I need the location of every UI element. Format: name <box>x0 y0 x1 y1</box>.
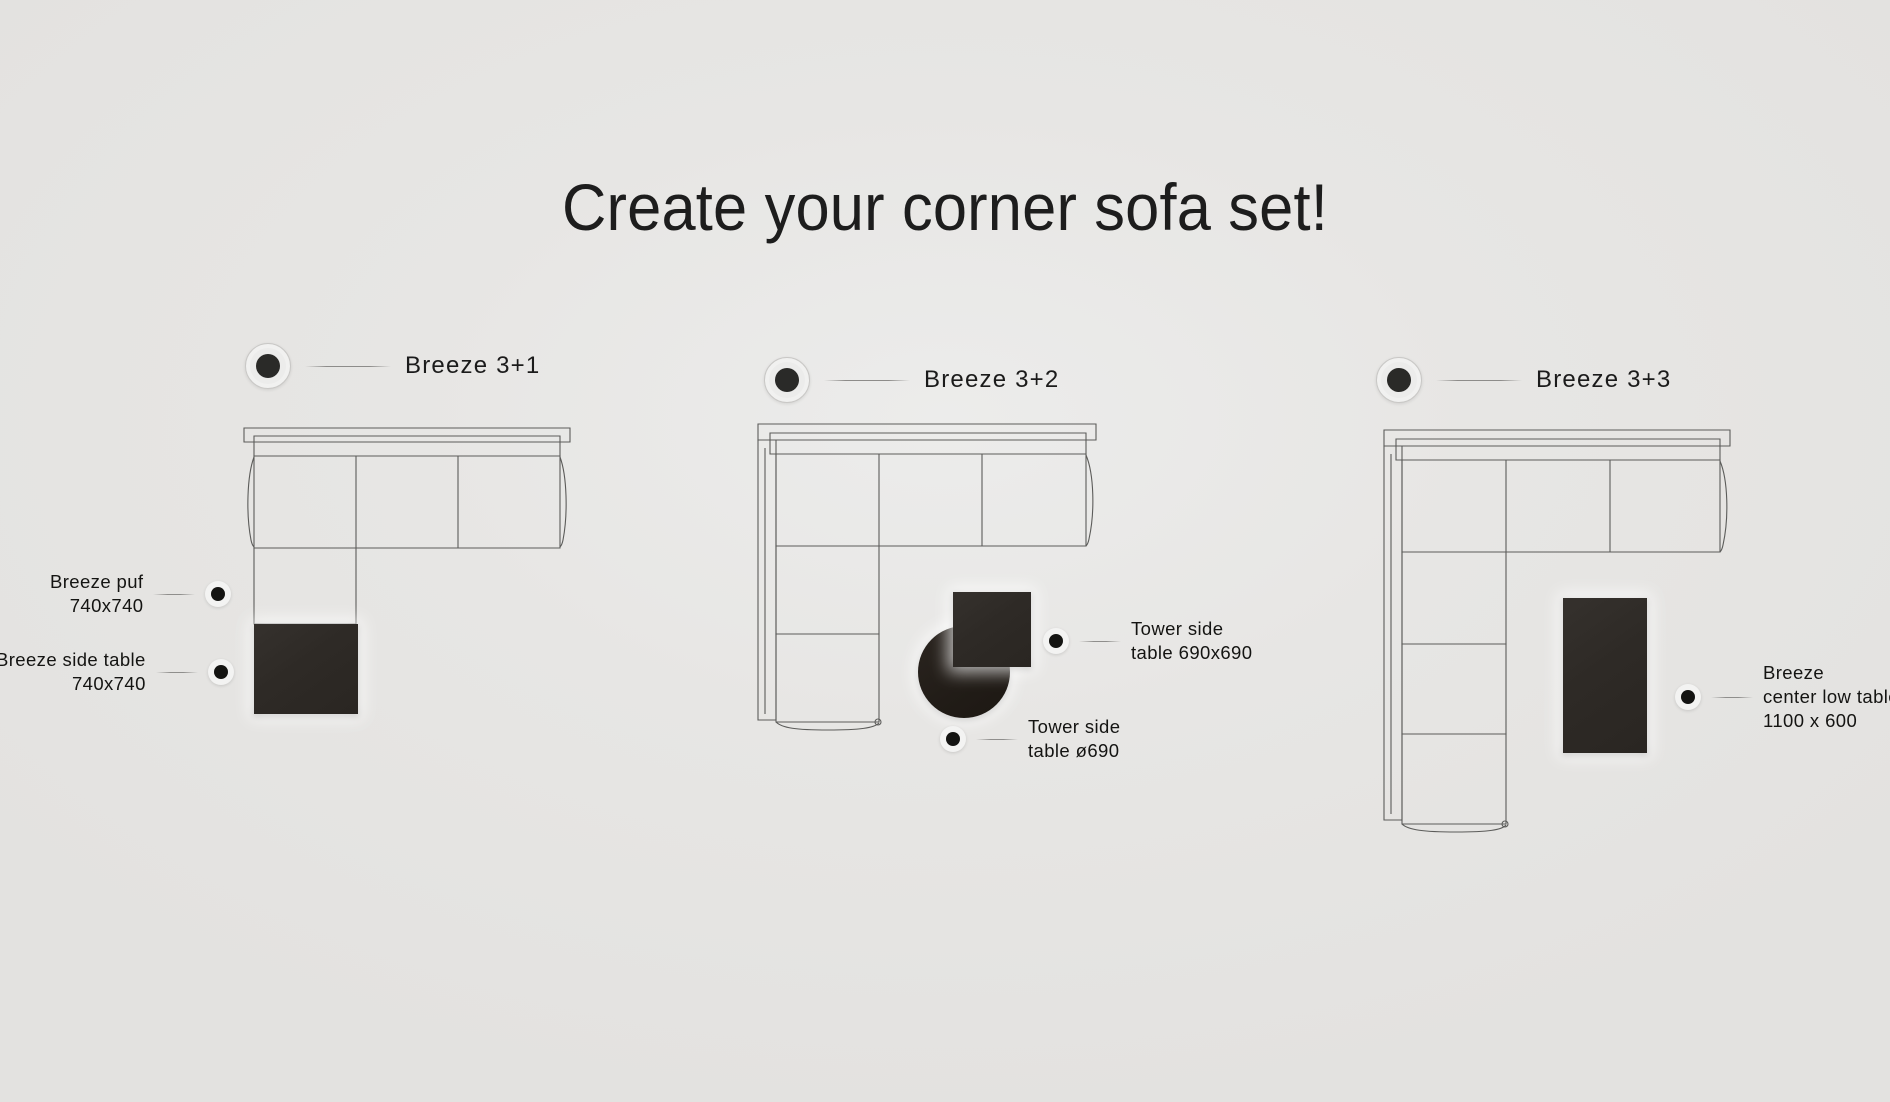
callout-line-1: Tower side <box>1028 715 1120 739</box>
radio-dot-inner <box>1387 368 1411 392</box>
diagram-canvas: Create your corner sofa set! Breeze 3+1 <box>0 0 1890 1102</box>
option-label-breeze-3-3: Breeze 3+3 <box>1536 366 1671 394</box>
callout-label-group: Breeze center low table 1100 x 600 <box>1763 661 1890 733</box>
radio-dot-icon[interactable] <box>764 357 810 403</box>
callout-label-group: Tower side table ø690 <box>1028 715 1120 763</box>
leader-line <box>1436 380 1522 381</box>
callout-line-1: Tower side <box>1131 617 1252 641</box>
callout-dot-icon[interactable] <box>1043 628 1069 654</box>
callout-tower-side-table-round[interactable]: Tower side table ø690 <box>940 715 1120 763</box>
radio-dot-icon[interactable] <box>1376 357 1422 403</box>
furniture-center-low-table[interactable] <box>1563 598 1647 753</box>
option-header-breeze-3-2[interactable]: Breeze 3+2 <box>764 357 1059 403</box>
sofa-plan-breeze-3-3 <box>1382 428 1742 876</box>
callout-line-2: table ø690 <box>1028 739 1120 763</box>
callout-dot-icon[interactable] <box>1675 684 1701 710</box>
sofa-set-option-breeze-3-3[interactable]: Breeze 3+3 <box>0 0 760 920</box>
leader-line <box>824 380 910 381</box>
callout-dot-icon[interactable] <box>940 726 966 752</box>
callout-line-1: Breeze <box>1763 661 1890 685</box>
furniture-tower-table-square[interactable] <box>953 592 1031 667</box>
callout-line-2: table 690x690 <box>1131 641 1252 665</box>
radio-dot-inner <box>775 368 799 392</box>
callout-breeze-center-low-table[interactable]: Breeze center low table 1100 x 600 <box>1675 661 1890 733</box>
leader-line <box>1711 697 1753 698</box>
callout-dot-inner <box>946 732 960 746</box>
option-header-breeze-3-3[interactable]: Breeze 3+3 <box>1376 357 1671 403</box>
callout-dot-inner <box>1049 634 1063 648</box>
callout-tower-side-table-square[interactable]: Tower side table 690x690 <box>1043 617 1252 665</box>
option-label-breeze-3-2: Breeze 3+2 <box>924 366 1059 394</box>
callout-dot-inner <box>1681 690 1695 704</box>
callout-line-3: 1100 x 600 <box>1763 709 1890 733</box>
leader-line <box>1079 641 1121 642</box>
callout-line-2: center low table <box>1763 685 1890 709</box>
callout-label-group: Tower side table 690x690 <box>1131 617 1252 665</box>
leader-line <box>976 739 1018 740</box>
